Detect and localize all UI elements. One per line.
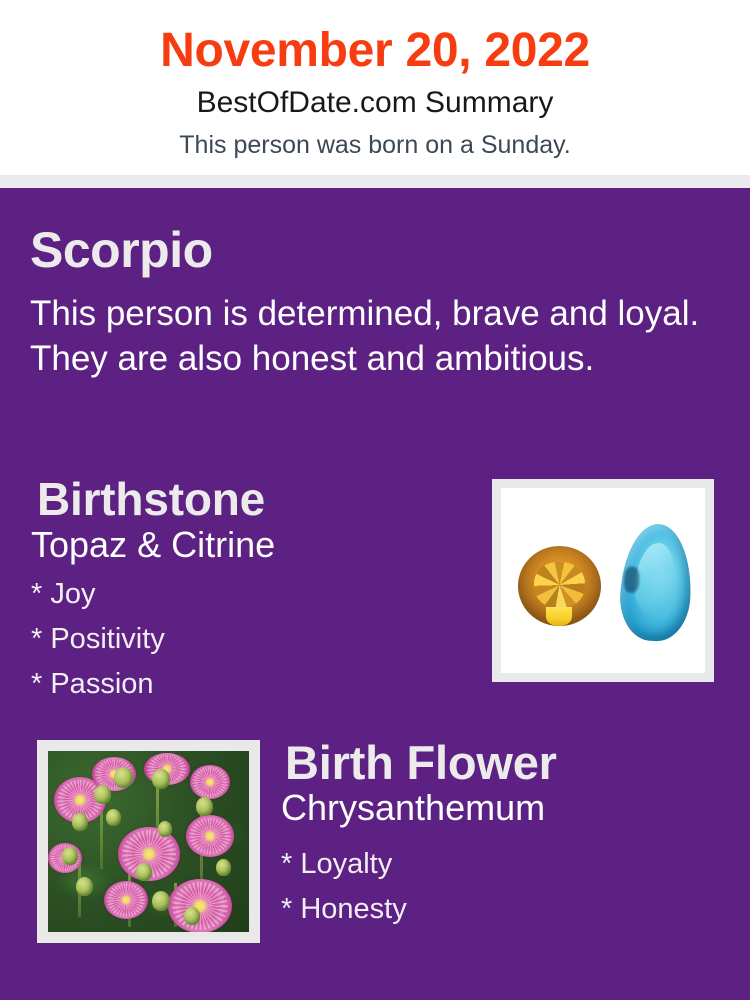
birth-flower-heading: Birth Flower [285, 735, 557, 791]
chrysanthemum-bloom [168, 879, 232, 932]
flower-bud [152, 891, 170, 911]
flower-bud [196, 797, 213, 816]
flower-bud [152, 769, 170, 789]
flower-bud [184, 907, 200, 925]
summary-card: November 20, 2022 BestOfDate.com Summary… [0, 0, 750, 1000]
page-title-date: November 20, 2022 [0, 22, 750, 80]
zodiac-description: This person is determined, brave and loy… [30, 291, 702, 381]
zodiac-sign-title: Scorpio [30, 221, 213, 279]
birthstone-image-frame [492, 479, 714, 682]
birth-flower-name: Chrysanthemum [281, 786, 545, 830]
chrysanthemum-bloom [190, 765, 230, 799]
flower-bud [158, 821, 172, 837]
flower-bud [72, 813, 88, 831]
birth-flower-image [48, 751, 249, 932]
birth-flower-trait-list: * Loyalty * Honesty [281, 842, 721, 932]
birth-day-note: This person was born on a Sunday. [0, 129, 750, 161]
header-divider [0, 175, 750, 188]
birthstone-trait-list: * Joy * Positivity * Passion [31, 572, 461, 707]
flower-bud [76, 877, 93, 896]
flower-bud [114, 767, 133, 788]
card-header: November 20, 2022 BestOfDate.com Summary… [0, 0, 750, 175]
flower-bud [106, 809, 121, 826]
birth-flower-image-frame [37, 740, 260, 943]
chrysanthemum-bloom [186, 815, 234, 857]
birthstone-name: Topaz & Citrine [31, 523, 275, 567]
site-summary-label: BestOfDate.com Summary [0, 85, 750, 121]
flower-bud [216, 859, 231, 876]
flower-bud [94, 785, 111, 804]
content-panel: Scorpio This person is determined, brave… [0, 188, 750, 1000]
list-item: * Joy [31, 572, 461, 617]
list-item: * Positivity [31, 617, 461, 662]
citrine-gem-icon [518, 546, 601, 626]
list-item: * Passion [31, 662, 461, 707]
topaz-gem-icon [618, 522, 694, 643]
list-item: * Loyalty [281, 842, 721, 887]
chrysanthemum-bloom [104, 881, 148, 919]
flower-bud [62, 847, 78, 865]
birthstone-image [501, 488, 705, 673]
birthstone-heading: Birthstone [37, 472, 265, 526]
list-item: * Honesty [281, 887, 721, 932]
flower-bud [136, 863, 152, 881]
